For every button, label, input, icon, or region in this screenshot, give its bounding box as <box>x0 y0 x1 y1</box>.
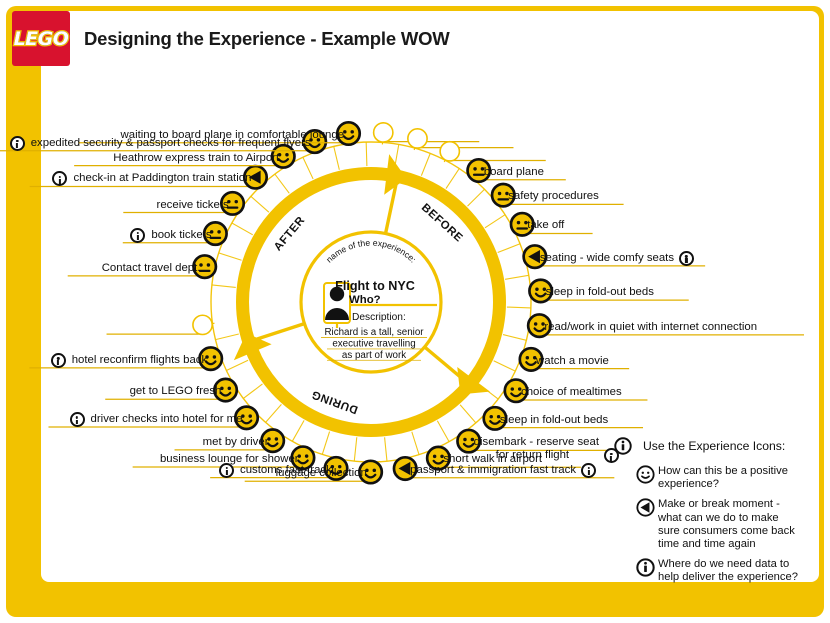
step-label-s05: Heathrow express train to Airport <box>113 152 279 165</box>
legend-item-3-line-1: Where do we need data to <box>658 558 789 570</box>
lego-logo: LEGO <box>12 11 70 66</box>
step-label-s04: check-in at Paddington train station <box>73 172 251 185</box>
step-label-s12: safety procedures <box>508 190 599 203</box>
step-label-s19: sleep in fold-out beds <box>500 414 608 427</box>
step-label-s14: seating - wide comfy seats <box>540 252 674 265</box>
description-line-3: as part of work <box>342 350 406 361</box>
step-label-s01: Contact travel dept. <box>102 262 201 275</box>
make-or-break-icon <box>636 498 655 517</box>
step-icon-s09[interactable] <box>408 129 514 150</box>
info-icon[interactable] <box>51 353 66 368</box>
description-label: Description: <box>352 312 406 323</box>
info-icon[interactable] <box>679 251 694 266</box>
step-label-s22: passport & immigration fast track <box>410 464 576 477</box>
legend-item-2-line-2: what can we do to make <box>658 512 779 524</box>
description-line-1: Richard is a tall, senior <box>324 327 424 338</box>
face-smile-icon <box>636 465 655 484</box>
legend-item-3: Where do we need data tohelp deliver the… <box>614 558 819 584</box>
who-label: Who? <box>349 294 381 306</box>
step-label-s03: receive tickets <box>157 199 229 212</box>
info-icon <box>614 437 632 455</box>
info-icon[interactable] <box>10 136 25 151</box>
info-icon[interactable] <box>219 463 234 478</box>
legend-item-2-line-3: sure consumers come back <box>658 525 795 537</box>
legend-item-3-line-2: help deliver the experience? <box>658 571 798 583</box>
step-label-s02: book tickets <box>151 229 211 242</box>
legend-item-2-line-4: time and time again <box>658 538 756 550</box>
step-label-s13: take off <box>527 219 564 232</box>
info-icon[interactable] <box>581 463 596 478</box>
step-label-s26: met by driver <box>203 436 269 449</box>
slide-root: LEGO Designing the Experience - Example … <box>0 0 830 623</box>
lego-wordmark: LEGO <box>14 28 69 50</box>
step-label-s17: watch a movie <box>536 355 609 368</box>
page-title: Designing the Experience - Example WOW <box>84 28 450 50</box>
info-icon[interactable] <box>70 412 85 427</box>
step-label-s16: read/work in quiet with internet connect… <box>544 321 757 334</box>
step-label-s18: choice of mealtimes <box>521 386 622 399</box>
step-label-s27: driver checks into hotel for me <box>91 413 243 426</box>
legend-item-2: Make or break moment -what can we do to … <box>614 498 819 551</box>
legend-item-1-line-2: experience? <box>658 478 719 490</box>
step-label-s20: disembark - reserve seat <box>474 436 599 449</box>
step-label-s28: get to LEGO fresh <box>130 385 222 398</box>
description-line-2: executive travelling <box>332 338 415 349</box>
step-label-s15: sleep in fold-out beds <box>546 286 654 299</box>
legend-item-2-line-1: Make or break moment - <box>658 498 780 510</box>
step-label-s07: waiting to board plane in comfortable lo… <box>121 129 345 142</box>
legend-heading: Use the Experience Icons: <box>614 438 819 458</box>
step-label-s29: hotel reconfirm flights back <box>72 354 207 367</box>
step-icon-s10[interactable] <box>440 142 546 162</box>
step-label-s11: board plane <box>484 166 544 179</box>
legend-item-1: How can this be a positiveexperience? <box>614 465 819 491</box>
legend: Use the Experience Icons: How can this b… <box>614 438 819 585</box>
legend-heading-text: Use the Experience Icons: <box>643 439 785 453</box>
experience-name: Flight to NYC <box>335 279 415 293</box>
phase-label-during: DURING <box>310 388 360 416</box>
info-icon <box>636 558 655 577</box>
step-icon-s30[interactable] <box>107 315 215 334</box>
legend-item-1-line-1: How can this be a positive <box>658 465 788 477</box>
